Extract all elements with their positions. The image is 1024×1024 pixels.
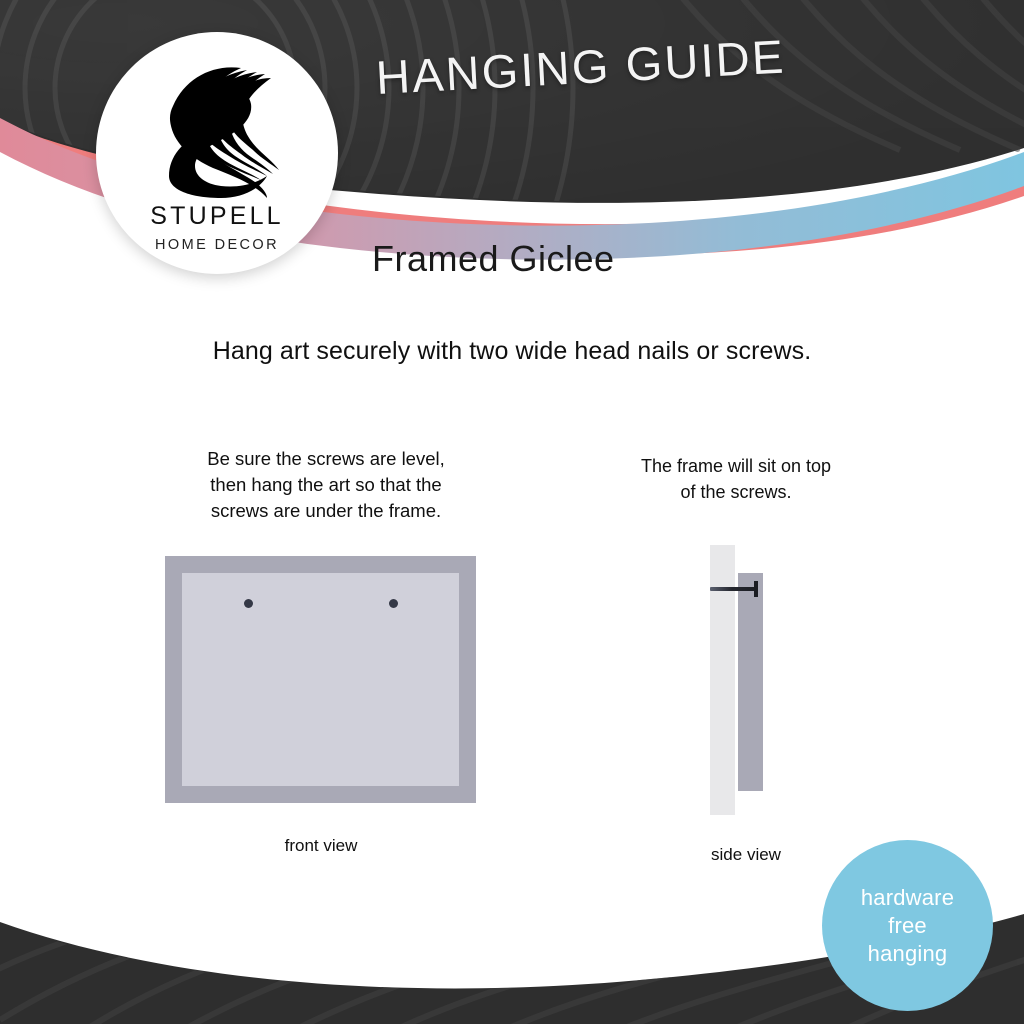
front-view-caption-line: then hang the art so that the xyxy=(176,472,476,498)
screw-head-icon xyxy=(754,581,758,597)
screw-dot-right-icon xyxy=(389,599,398,608)
badge-line: hanging xyxy=(868,940,948,968)
front-view-diagram xyxy=(165,556,476,803)
badge-line: hardware xyxy=(861,884,954,912)
front-view-caption-line: Be sure the screws are level, xyxy=(176,446,476,472)
front-view-label: front view xyxy=(166,836,476,856)
screw-dot-left-icon xyxy=(244,599,253,608)
product-name: Framed Giclee xyxy=(372,238,615,280)
side-view-caption-line: of the screws. xyxy=(600,479,872,505)
front-view-art-panel xyxy=(182,573,459,786)
side-view-diagram xyxy=(700,545,792,815)
side-view-wall xyxy=(710,545,735,815)
side-view-frame xyxy=(738,573,763,791)
front-view-caption: Be sure the screws are level, then hang … xyxy=(176,446,476,524)
brand-name: STUPELL xyxy=(96,204,338,229)
side-view-caption: The frame will sit on top of the screws. xyxy=(600,453,872,505)
page-title: HANGING GUIDE xyxy=(375,29,787,105)
hardware-free-hanging-badge: hardware free hanging xyxy=(822,840,993,1011)
hanging-guide-page: STUPELL HOME DECOR HANGING GUIDE Framed … xyxy=(0,0,1024,1024)
screw-shank-icon xyxy=(710,587,758,591)
side-view-caption-line: The frame will sit on top xyxy=(600,453,872,479)
badge-line: free xyxy=(888,912,927,940)
side-view-label: side view xyxy=(660,845,832,865)
stupell-swoosh-logo-icon xyxy=(155,58,279,200)
front-view-caption-line: screws are under the frame. xyxy=(176,498,476,524)
brand-logo-badge: STUPELL HOME DECOR xyxy=(96,32,338,274)
brand-tagline: HOME DECOR xyxy=(96,238,338,253)
main-instruction: Hang art securely with two wide head nai… xyxy=(0,337,1024,366)
